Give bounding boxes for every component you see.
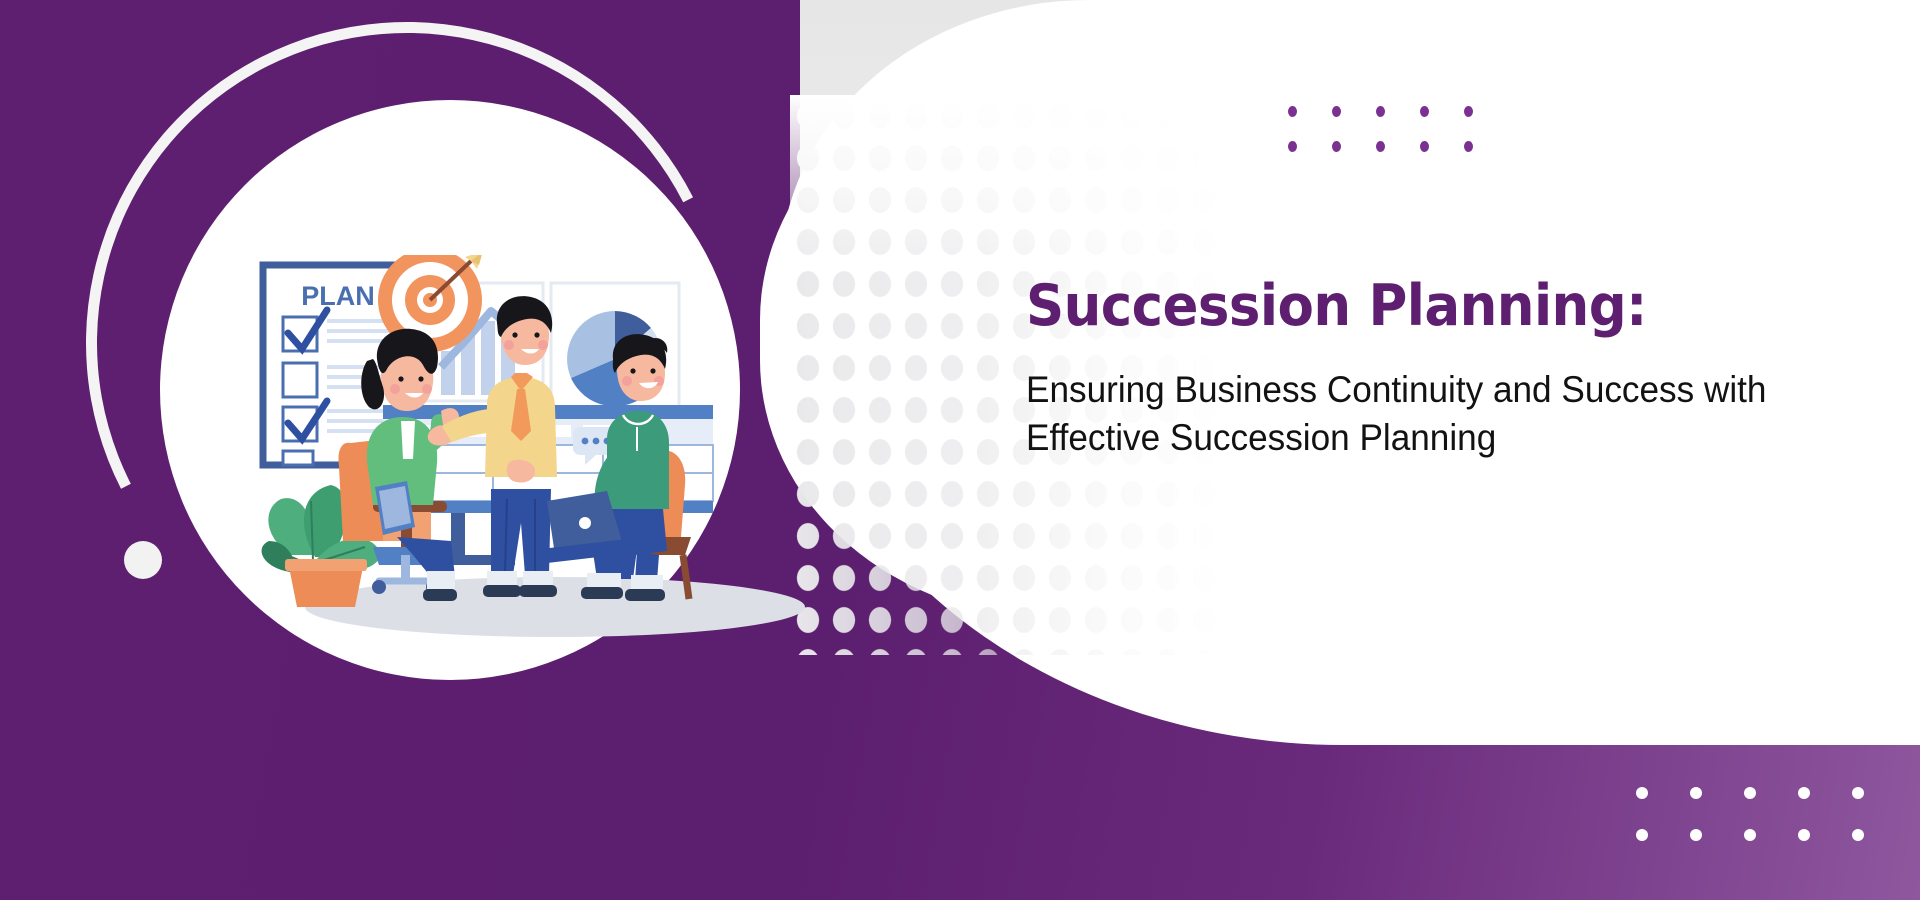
dot [1288, 106, 1297, 117]
dot [1690, 829, 1702, 841]
decorative-arc-cap-dot [124, 541, 162, 579]
dot-grid-bottom-right [1636, 787, 1864, 841]
dot [1744, 787, 1756, 799]
dot [1636, 787, 1648, 799]
dot-grid-top-right [1288, 106, 1473, 152]
page-title: Succession Planning: [1026, 276, 1798, 338]
dot [1744, 829, 1756, 841]
dot [1852, 829, 1864, 841]
dot [1852, 787, 1864, 799]
plan-board-title: PLAN [301, 281, 375, 311]
dot [1636, 829, 1648, 841]
dot [1798, 829, 1810, 841]
dot [1464, 141, 1473, 152]
page-subtitle: Ensuring Business Continuity and Success… [1026, 366, 1815, 464]
text-block: Succession Planning: Ensuring Business C… [1026, 276, 1856, 463]
succession-planning-illustration: PLAN [255, 255, 855, 655]
succession-planning-banner: PLAN [0, 0, 1920, 900]
dot [1420, 141, 1429, 152]
dot [1798, 787, 1810, 799]
dot [1376, 141, 1385, 152]
dot [1288, 141, 1297, 152]
dot [1332, 141, 1341, 152]
dot [1464, 106, 1473, 117]
dot [1420, 106, 1429, 117]
dot [1376, 106, 1385, 117]
dot [1332, 106, 1341, 117]
dot [1690, 787, 1702, 799]
